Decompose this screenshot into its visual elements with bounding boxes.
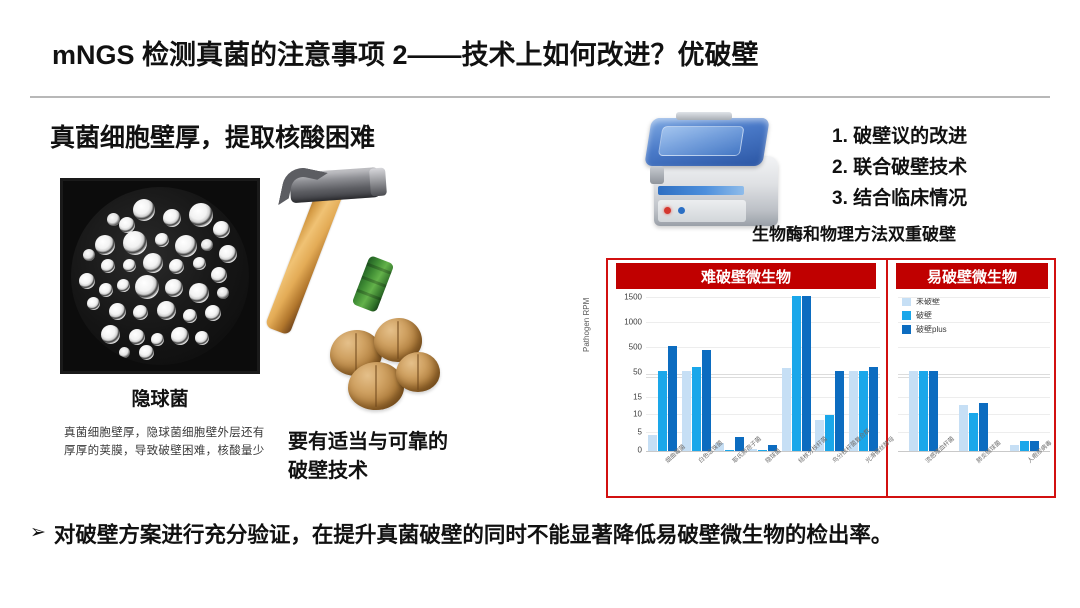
chart-banner-easy: 易破壁微生物 [896, 263, 1048, 289]
y-tick-1500: 1500 [624, 293, 642, 302]
instrument-latch[interactable] [650, 166, 664, 184]
y-tick-1000: 1000 [624, 318, 642, 327]
bar-lysed [725, 450, 734, 451]
bottom-bullet-text: 对破壁方案进行充分验证，在提升真菌破壁的同时不能显著降低易破壁微生物的检出率。 [54, 520, 893, 551]
bar-unlysed [959, 405, 968, 451]
chart-banner-hard: 难破壁微生物 [616, 263, 876, 289]
y-tick-500: 500 [629, 343, 642, 352]
bar-unlysed [1010, 445, 1019, 451]
bar-lysed-plus [702, 350, 711, 451]
improvement-item-3: 3. 结合临床情况 [832, 184, 967, 215]
x-label-2: 肺炎链球菌 [974, 458, 998, 485]
chart-plot-area-hard [646, 294, 880, 452]
bottom-bullet: ➢ 对破壁方案进行充分验证，在提升真菌破壁的同时不能显著降低易破壁微生物的检出率… [30, 520, 1060, 551]
bar-group-1 [648, 293, 677, 451]
chart-panel-divider [886, 260, 888, 496]
bar-group-3 [1010, 293, 1039, 451]
x-label-4: 隐球菌 [763, 458, 787, 485]
chart-bar-groups-hard [646, 293, 880, 451]
improvement-list: 1. 破壁议的改进 2. 联合破壁技术 3. 结合临床情况 [832, 122, 967, 214]
hammer-caption: 要有适当与可靠的 破壁技术 [288, 428, 448, 486]
y-axis-label: Pathogen RPM [582, 298, 591, 352]
improvement-item-2: 2. 联合破壁技术 [832, 153, 967, 184]
page-title: mNGS 检测真菌的注意事项 2——技术上如何改进？优破壁 [52, 33, 759, 72]
section-heading-left: 真菌细胞壁厚，提取核酸困难 [50, 118, 375, 154]
bar-lysed-plus [802, 296, 811, 451]
y-tick-5: 5 [638, 428, 642, 437]
walnut-4 [396, 352, 440, 392]
y-axis-ticks: 1500 1000 500 50 15 10 5 0 [616, 294, 644, 452]
instrument-hinge [676, 112, 732, 120]
bar-lysed-plus [835, 371, 844, 451]
improvement-item-1: 1. 破壁议的改进 [832, 122, 967, 153]
hammer-caption-line1: 要有适当与可靠的 [288, 428, 448, 457]
bar-group-5 [782, 293, 811, 451]
hammer-claw-icon [278, 164, 328, 214]
bead-beater-instrument [648, 112, 790, 230]
chart-bar-groups-easy [898, 293, 1050, 451]
bar-lysed [919, 371, 928, 451]
x-label-7: 光滑假丝酵母 [863, 458, 887, 485]
bar-lysed [825, 415, 834, 451]
bar-group-4 [748, 293, 777, 451]
x-label-5: 结核分枝杆菌 [796, 458, 820, 485]
micrograph-caption: 隐球菌 [60, 384, 260, 411]
x-axis-labels-hard: 烟曲霉菌 白色念珠菌 耶氏肺孢子菌 隐球菌 结核分枝杆菌 鸟分枝杆菌复合群 光滑… [646, 454, 880, 494]
bar-unlysed [909, 371, 918, 451]
bar-group-2 [959, 293, 988, 451]
x-label-3: 人疱疹病毒 [1025, 458, 1049, 485]
hammer-caption-line2: 破壁技术 [288, 457, 448, 486]
power-led-icon [664, 207, 671, 214]
bar-lysed [692, 367, 701, 451]
micrograph-field [71, 187, 249, 365]
bar-lysed-plus [979, 403, 988, 451]
slide-root: mNGS 检测真菌的注意事项 2——技术上如何改进？优破壁 真菌细胞壁厚，提取核… [0, 0, 1080, 608]
micrograph-note: 真菌细胞壁厚，隐球菌细胞壁外层还有厚厚的荚膜，导致破壁困难，核酸量少 [64, 424, 269, 460]
bar-lysed-plus [668, 346, 677, 451]
bar-lysed [758, 450, 767, 451]
bar-lysed-plus [929, 371, 938, 451]
chart-panel-easy: 未破壁 破壁 破壁plus [892, 294, 1052, 494]
bullet-arrow-icon: ➢ [30, 520, 46, 551]
y-tick-0: 0 [638, 446, 642, 455]
y-tick-50: 50 [633, 368, 642, 377]
bar-lysed [792, 296, 801, 451]
x-label-3: 耶氏肺孢子菌 [730, 458, 754, 485]
instrument-lid-window [658, 126, 745, 156]
instrument-lid[interactable] [644, 118, 770, 166]
bar-lysed [969, 413, 978, 451]
bar-group-1 [909, 293, 938, 451]
bar-group-7 [849, 293, 878, 451]
x-label-6: 鸟分枝杆菌复合群 [830, 458, 854, 485]
bar-unlysed [648, 435, 657, 451]
bar-group-6 [815, 293, 844, 451]
pathogen-rpm-chart: 难破壁微生物 易破壁微生物 Pathogen RPM 1500 1000 500… [606, 258, 1056, 498]
status-led-icon [678, 207, 685, 214]
x-label-1: 流感嗜血杆菌 [923, 458, 947, 485]
chart-plot-area-easy [898, 294, 1050, 452]
y-tick-10: 10 [633, 410, 642, 419]
x-label-1: 烟曲霉菌 [663, 458, 687, 485]
instrument-control-panel[interactable] [658, 200, 746, 222]
title-divider [30, 96, 1050, 98]
y-tick-15: 15 [633, 393, 642, 402]
x-label-2: 白色念珠菌 [696, 458, 720, 485]
chart-panel-hard: Pathogen RPM 1500 1000 500 50 15 10 5 0 [616, 294, 882, 494]
hammer-grip-icon [352, 255, 395, 313]
bar-lysed-plus [869, 367, 878, 451]
bar-unlysed [682, 371, 691, 451]
instrument-stripe [658, 186, 744, 195]
bar-group-3 [715, 293, 744, 451]
x-axis-labels-easy: 流感嗜血杆菌 肺炎链球菌 人疱疹病毒 [898, 454, 1050, 494]
bar-lysed [1020, 441, 1029, 451]
bar-unlysed [782, 368, 791, 451]
bar-lysed [658, 371, 667, 451]
dual-lysis-note: 生物酶和物理方法双重破壁 [752, 220, 956, 245]
bar-group-2 [682, 293, 711, 451]
hammer-face-icon [369, 167, 387, 196]
cryptococcus-micrograph [60, 178, 260, 374]
